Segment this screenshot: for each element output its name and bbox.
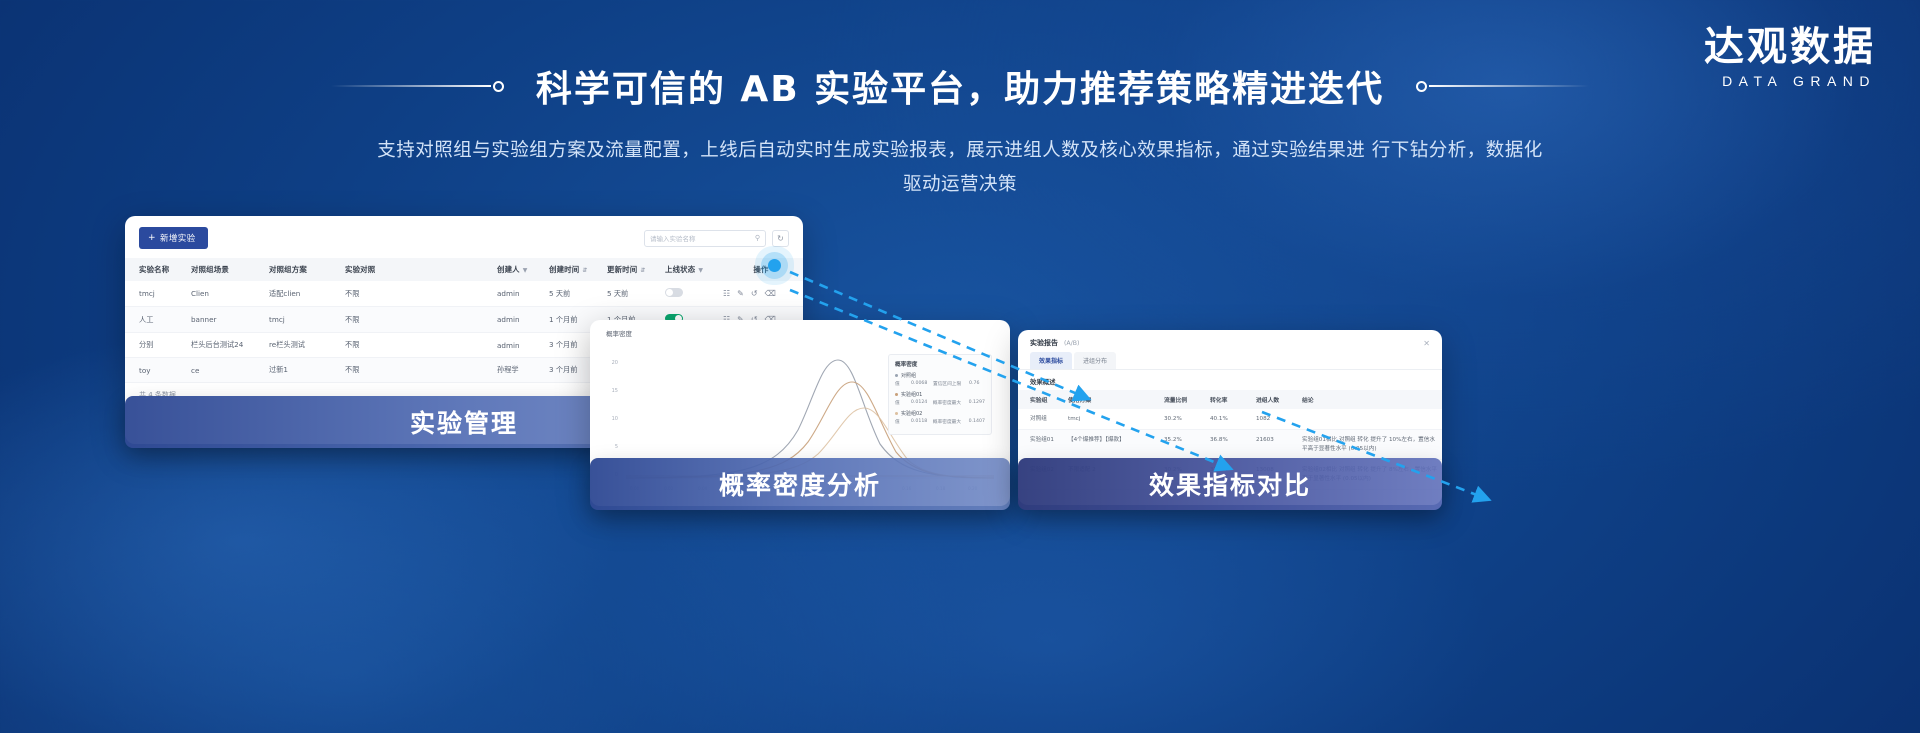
report-icon[interactable]: ↺ — [751, 289, 758, 298]
col-note: 结论 — [1302, 390, 1442, 409]
legend-series-name: 实验组01 — [901, 391, 922, 398]
legend-series-name: 对照组 — [901, 372, 916, 379]
cell-creator: admin — [497, 333, 549, 358]
svg-text:15: 15 — [612, 388, 618, 394]
new-experiment-label: 新增实验 — [160, 232, 196, 244]
report-tabs: 效果指标 进组分布 — [1018, 352, 1442, 370]
cell-group: 对照组 — [1018, 409, 1068, 430]
cell-creator: admin — [497, 281, 549, 307]
legend-row: 值0.0124 概率密度最大0.1297 — [895, 400, 985, 406]
hotspot-dot[interactable] — [768, 259, 781, 272]
cell-plan: tmcj — [1068, 409, 1164, 430]
chart-legend: 概率密度 对照组 值0.0068 置信区间上限0.76 实验组01 值0.012… — [888, 354, 992, 435]
filter-icon: ▼ — [523, 267, 528, 274]
report-subtitle: (A/B) — [1064, 340, 1079, 347]
cell-scene: Clien — [191, 281, 269, 307]
cell-created: 5 天前 — [549, 281, 607, 307]
title-decoration-left — [331, 81, 506, 92]
legend-row: 值0.0118 概率密度最大0.1407 — [895, 419, 985, 425]
cell-actions: ☷ ✎ ↺ ⌫ — [723, 281, 803, 307]
page-header: 科学可信的 AB 实验平台，助力推荐策略精进迭代 支持对照组与实验组方案及流量配… — [0, 60, 1920, 202]
col-users: 进组人数 — [1256, 390, 1302, 409]
cell-contrast: 不限 — [345, 333, 497, 358]
cell-contrast: 不限 — [345, 307, 497, 333]
legend-row: 值0.0068 置信区间上限0.76 — [895, 381, 985, 387]
col-updated[interactable]: 更新时间⇵ — [607, 258, 665, 281]
cell-online — [665, 281, 723, 307]
cell-name: 人工 — [125, 307, 191, 333]
metrics-row[interactable]: 对照组 tmcj 30.2% 40.1% 1082 — [1018, 409, 1442, 430]
edit-icon[interactable]: ✎ — [737, 289, 744, 298]
cell-scene: ce — [191, 358, 269, 383]
cell-plan: 【4个爆推荐】【爆款】 — [1068, 430, 1164, 460]
title-decoration-right — [1414, 81, 1589, 92]
search-icon: ⚲ — [755, 234, 760, 242]
cell-conversion: 40.1% — [1210, 409, 1256, 430]
metrics-header-row: 实验组 使用方案 流量比例 转化率 进组人数 结论 — [1018, 390, 1442, 409]
cell-traffic: 35.2% — [1164, 430, 1210, 460]
col-created[interactable]: 创建时间⇵ — [549, 258, 607, 281]
legend-title: 概率密度 — [895, 360, 985, 368]
filter-icon: ▼ — [698, 267, 703, 274]
cell-group: 实验组01 — [1018, 430, 1068, 460]
sort-icon: ⇵ — [582, 267, 587, 274]
subtitle-line-1: 支持对照组与实验组方案及流量配置，上线后自动实时生成实验报表，展示进组人数及核心… — [377, 140, 1365, 161]
col-conversion: 转化率 — [1210, 390, 1256, 409]
cell-scene: banner — [191, 307, 269, 333]
cell-plan: tmcj — [269, 307, 345, 333]
col-actions: 操作 — [723, 258, 803, 281]
plus-icon: + — [148, 234, 156, 243]
refresh-icon[interactable]: ↻ — [772, 230, 789, 247]
tab-effect-metrics[interactable]: 效果指标 — [1030, 352, 1072, 369]
metrics-row[interactable]: 实验组01 【4个爆推荐】【爆款】 35.2% 36.8% 21603 实验组0… — [1018, 430, 1442, 460]
search-placeholder: 请输入实验名称 — [650, 233, 696, 243]
svg-text:10: 10 — [612, 416, 618, 422]
cell-conversion: 36.8% — [1210, 430, 1256, 460]
legend-color-dot — [895, 374, 898, 377]
report-header: 实验报告 (A/B) ✕ — [1018, 330, 1442, 352]
cell-name: tmcj — [125, 281, 191, 307]
col-traffic: 流量比例 — [1164, 390, 1210, 409]
col-contrast: 实验对照 — [345, 258, 497, 281]
legend-group: 对照组 值0.0068 置信区间上限0.76 — [895, 372, 985, 387]
col-plan: 使用方案 — [1068, 390, 1164, 409]
cell-name: toy — [125, 358, 191, 383]
caption-probability-density: 概率密度分析 — [590, 458, 1010, 510]
cell-traffic: 30.2% — [1164, 409, 1210, 430]
cell-plan: 过新1 — [269, 358, 345, 383]
experiment-toolbar: + 新增实验 请输入实验名称 ⚲ ↻ — [125, 216, 803, 258]
close-icon[interactable]: ✕ — [1423, 339, 1430, 348]
page-subtitle: 支持对照组与实验组方案及流量配置，上线后自动实时生成实验报表，展示进组人数及核心… — [370, 134, 1550, 202]
legend-color-dot — [895, 412, 898, 415]
col-online[interactable]: 上线状态▼ — [665, 258, 723, 281]
col-name: 实验名称 — [125, 258, 191, 281]
cell-name: 分别 — [125, 333, 191, 358]
cell-plan: 适配clien — [269, 281, 345, 307]
cell-creator: 孙程学 — [497, 358, 549, 383]
col-creator[interactable]: 创建人▼ — [497, 258, 549, 281]
svg-text:5: 5 — [615, 444, 618, 450]
cell-contrast: 不限 — [345, 281, 497, 307]
delete-icon[interactable]: ⌫ — [765, 289, 776, 298]
col-group: 实验组 — [1018, 390, 1068, 409]
cell-note — [1302, 409, 1442, 430]
col-scene: 对照组场景 — [191, 258, 269, 281]
legend-group: 实验组02 值0.0118 概率密度最大0.1407 — [895, 410, 985, 425]
caption-effect-metrics: 效果指标对比 — [1018, 458, 1442, 510]
cell-scene: 栏头后台测试24 — [191, 333, 269, 358]
page-title: 科学可信的 AB 实验平台，助力推荐策略精进迭代 — [536, 60, 1384, 112]
copy-icon[interactable]: ☷ — [723, 289, 730, 298]
cell-contrast: 不限 — [345, 358, 497, 383]
search-input[interactable]: 请输入实验名称 ⚲ — [644, 230, 766, 247]
legend-group: 实验组01 值0.0124 概率密度最大0.1297 — [895, 391, 985, 406]
svg-text:20: 20 — [612, 360, 618, 366]
table-header-row: 实验名称 对照组场景 对照组方案 实验对照 创建人▼ 创建时间⇵ 更新时间⇵ 上… — [125, 258, 803, 281]
legend-series-name: 实验组02 — [901, 410, 922, 417]
col-plan: 对照组方案 — [269, 258, 345, 281]
report-section-title: 效果概述 — [1018, 370, 1442, 390]
table-row[interactable]: tmcj Clien 适配clien 不限 admin 5 天前 5 天前 ☷ … — [125, 281, 803, 307]
cell-creator: admin — [497, 307, 549, 333]
legend-color-dot — [895, 393, 898, 396]
new-experiment-button[interactable]: + 新增实验 — [139, 227, 208, 249]
cell-note: 实验组01相比 对照组 转化 提升了 10%左右，置信水平高于显著性水平 (0.… — [1302, 430, 1442, 460]
report-title: 实验报告 — [1030, 338, 1058, 348]
tab-group-distribution[interactable]: 进组分布 — [1074, 352, 1116, 369]
online-toggle[interactable] — [665, 288, 683, 297]
sort-icon: ⇵ — [640, 267, 645, 274]
cell-users: 21603 — [1256, 430, 1302, 460]
cell-updated: 5 天前 — [607, 281, 665, 307]
cell-users: 1082 — [1256, 409, 1302, 430]
cell-plan: re栏头测试 — [269, 333, 345, 358]
